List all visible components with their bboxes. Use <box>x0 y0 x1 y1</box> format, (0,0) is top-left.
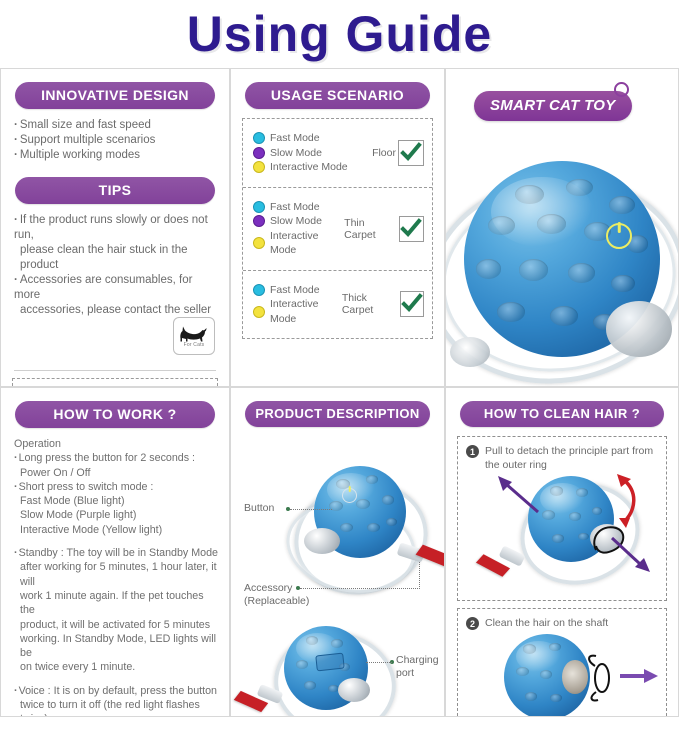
text-line: twice to turn it off (the red light flas… <box>14 698 218 717</box>
step-1-diagram <box>458 472 666 580</box>
metal-hub <box>338 678 370 702</box>
list-item: Slow Mode <box>253 146 348 161</box>
smart-cat-toy-badge: SMART CAT TOY <box>474 91 632 121</box>
step-text-line2: the outer ring <box>485 459 547 471</box>
text-line: working. In Standby Mode, LED lights wil… <box>14 632 218 661</box>
table-row: Fast Mode Slow Mode Interactive Mode Flo… <box>243 119 432 187</box>
leader-line <box>300 588 420 589</box>
how-to-clean-heading: HOW TO CLEAN HAIR ? <box>460 401 664 427</box>
arrow-right-icon <box>618 664 662 688</box>
text-line: Power On / Off <box>14 466 218 480</box>
list-item: Fast Mode <box>253 131 348 146</box>
step-2-diagram <box>458 630 666 717</box>
mode-list: Fast Mode Slow Mode Interactive Mode <box>253 131 348 175</box>
innovative-design-heading: INNOVATIVE DESIGN <box>15 82 215 109</box>
mode-label: Fast Mode <box>270 131 320 146</box>
accessory-label-line2: (Replaceable) <box>244 595 309 607</box>
mode-list: Fast Mode Interactive Mode <box>253 283 342 327</box>
text-line: Long press the button for 2 seconds : <box>14 451 218 465</box>
table-row: Fast Mode Interactive Mode Thick Carpet <box>243 270 432 339</box>
step-header: 2 Clean the hair on the shaft <box>458 609 666 630</box>
mode-dot-fast-icon <box>253 132 265 144</box>
charging-label-line1: Charging <box>396 654 439 666</box>
list-item: Accessories are consumables, for more <box>14 273 218 303</box>
text-line: work 1 minute again. If the pet touches … <box>14 589 218 618</box>
divider <box>14 370 216 371</box>
hair-ring-icon <box>584 652 618 704</box>
surface-label: Thin Carpet <box>344 217 397 241</box>
check-icon <box>401 144 421 162</box>
page-title: Using Guide <box>187 9 492 59</box>
list-item: Slow Mode <box>253 214 344 229</box>
clean-step-2: 2 Clean the hair on the shaft <box>457 608 667 717</box>
mode-label: Fast Mode <box>270 200 320 215</box>
mode-dot-interactive-icon <box>253 161 265 173</box>
clean-step-1: 1 Pull to detach the principle part from… <box>457 436 667 601</box>
product-ball <box>504 634 590 717</box>
arrow-curved-red-icon <box>604 472 650 532</box>
check-box <box>399 216 424 242</box>
spec-box: Product: Smart cat toy Model: L02 Materi… <box>12 378 218 387</box>
charging-label-line2: port <box>396 667 414 679</box>
diagram-lower: Charging port <box>242 616 433 717</box>
mode-dot-fast-icon <box>253 201 265 213</box>
for-cats-badge: For Cats <box>173 317 215 355</box>
panel-innovative-design: INNOVATIVE DESIGN Small size and fast sp… <box>0 68 230 387</box>
power-button-icon[interactable] <box>606 223 632 249</box>
for-cats-label: For Cats <box>184 342 205 348</box>
step-number-badge: 2 <box>466 617 479 630</box>
how-to-work-heading: HOW TO WORK ? <box>15 401 215 428</box>
mode-dot-interactive-icon <box>253 237 265 249</box>
list-item-cont: accessories, please contact the seller <box>14 303 218 318</box>
list-item: Interactive Mode <box>253 229 344 258</box>
how-to-work-body: Operation Long press the button for 2 se… <box>14 437 218 717</box>
mode-label: Interactive Mode <box>270 229 344 258</box>
charging-port <box>315 653 345 672</box>
accessory-label-line1: Accessory <box>244 582 292 594</box>
power-button-icon[interactable] <box>342 488 357 503</box>
text-line: Operation <box>14 437 218 451</box>
surface-label: Floor <box>372 147 396 159</box>
work-group: Voice : It is on by default, press the b… <box>14 684 218 717</box>
using-guide-page: Using Guide INNOVATIVE DESIGN Small size… <box>0 0 679 730</box>
work-group: Operation Long press the button for 2 se… <box>14 437 218 537</box>
mode-label: Interactive Mode <box>270 297 342 326</box>
mode-dot-fast-icon <box>253 284 265 296</box>
metal-wheel <box>606 301 672 357</box>
list-item: Support multiple scenarios <box>14 133 218 148</box>
text-line: Standby : The toy will be in Standby Mod… <box>14 546 218 560</box>
list-item: Interactive Mode <box>253 160 348 175</box>
tips-bullets: If the product runs slowly or does not r… <box>14 213 218 318</box>
arrow-down-right-icon <box>608 534 656 576</box>
check-box <box>398 140 424 166</box>
leader-line <box>290 509 332 510</box>
diagram-upper: Button Accessory (Replaceable) <box>242 436 433 616</box>
innovative-design-bullets: Small size and fast speed Support multip… <box>14 118 218 163</box>
text-line: Fast Mode (Blue light) <box>14 494 218 508</box>
check-box <box>400 291 424 317</box>
work-group: Standby : The toy will be in Standby Mod… <box>14 546 218 675</box>
step-text: Pull to detach the principle part from t… <box>485 444 653 472</box>
usage-scenario-heading: USAGE SCENARIO <box>245 82 430 109</box>
ball-highlight <box>540 483 585 514</box>
check-icon <box>402 295 422 313</box>
mode-label: Fast Mode <box>270 283 320 298</box>
metal-wheel-left <box>450 337 490 367</box>
leader-line-vertical <box>419 562 420 589</box>
text-line: Slow Mode (Purple light) <box>14 508 218 522</box>
step-header: 1 Pull to detach the principle part from… <box>458 437 666 472</box>
text-line: Short press to switch mode : <box>14 480 218 494</box>
charging-port-label: Charging port <box>396 654 439 680</box>
mode-dot-slow-icon <box>253 147 265 159</box>
product-description-heading: PRODUCT DESCRIPTION <box>245 401 430 427</box>
mode-label: Slow Mode <box>270 214 322 229</box>
text-line: on twice every 1 minute. <box>14 660 218 674</box>
text-line: Interactive Mode (Yellow light) <box>14 523 218 537</box>
tips-heading: TIPS <box>15 177 215 204</box>
surface-label: Thick Carpet <box>342 292 398 316</box>
list-item: Fast Mode <box>253 200 344 215</box>
degree-mark-icon <box>614 82 629 97</box>
leader-line <box>366 662 392 663</box>
step-text: Clean the hair on the shaft <box>485 616 608 630</box>
surface-result: Floor <box>372 140 424 166</box>
page-title-bar: Using Guide <box>0 0 679 68</box>
list-item: If the product runs slowly or does not r… <box>14 213 218 243</box>
surface-result: Thin Carpet <box>344 216 424 242</box>
step-number-badge: 1 <box>466 445 479 458</box>
mode-list: Fast Mode Slow Mode Interactive Mode <box>253 200 344 258</box>
step-text-line1: Pull to detach the principle part from <box>485 445 653 457</box>
surface-result: Thick Carpet <box>342 291 424 317</box>
accessory-feather <box>416 545 445 568</box>
panel-usage-scenario: USAGE SCENARIO Fast Mode Slow Mode <box>230 68 445 387</box>
list-item: Multiple working modes <box>14 148 218 163</box>
metal-hub <box>304 528 340 554</box>
mode-label: Slow Mode <box>270 146 322 161</box>
list-item: Small size and fast speed <box>14 118 218 133</box>
cat-icon <box>179 325 209 343</box>
panel-grid: INNOVATIVE DESIGN Small size and fast sp… <box>0 68 679 717</box>
text-line: after working for 5 minutes, 1 hour late… <box>14 560 218 589</box>
button-label: Button <box>244 502 274 515</box>
panel-product-description: PRODUCT DESCRIPTION <box>230 387 445 717</box>
text-line: product, it will be activated for 5 minu… <box>14 618 218 632</box>
list-item-cont: please clean the hair stuck in the produ… <box>14 243 218 273</box>
scenario-table: Fast Mode Slow Mode Interactive Mode Flo… <box>242 118 433 339</box>
mode-label: Interactive Mode <box>270 160 348 175</box>
check-icon <box>401 220 421 238</box>
mode-dot-slow-icon <box>253 215 265 227</box>
table-row: Fast Mode Slow Mode Interactive Mode Thi… <box>243 187 432 270</box>
mode-dot-interactive-icon <box>253 306 265 318</box>
list-item: Interactive Mode <box>253 297 342 326</box>
panel-how-to-work: HOW TO WORK ? Operation Long press the b… <box>0 387 230 717</box>
list-item: Fast Mode <box>253 283 342 298</box>
arrow-up-left-icon <box>492 474 542 516</box>
panel-hero-product: SMART CAT TOY <box>445 68 679 387</box>
text-line: Voice : It is on by default, press the b… <box>14 684 218 698</box>
panel-how-to-clean-hair: HOW TO CLEAN HAIR ? 1 Pull to detach the… <box>445 387 679 717</box>
